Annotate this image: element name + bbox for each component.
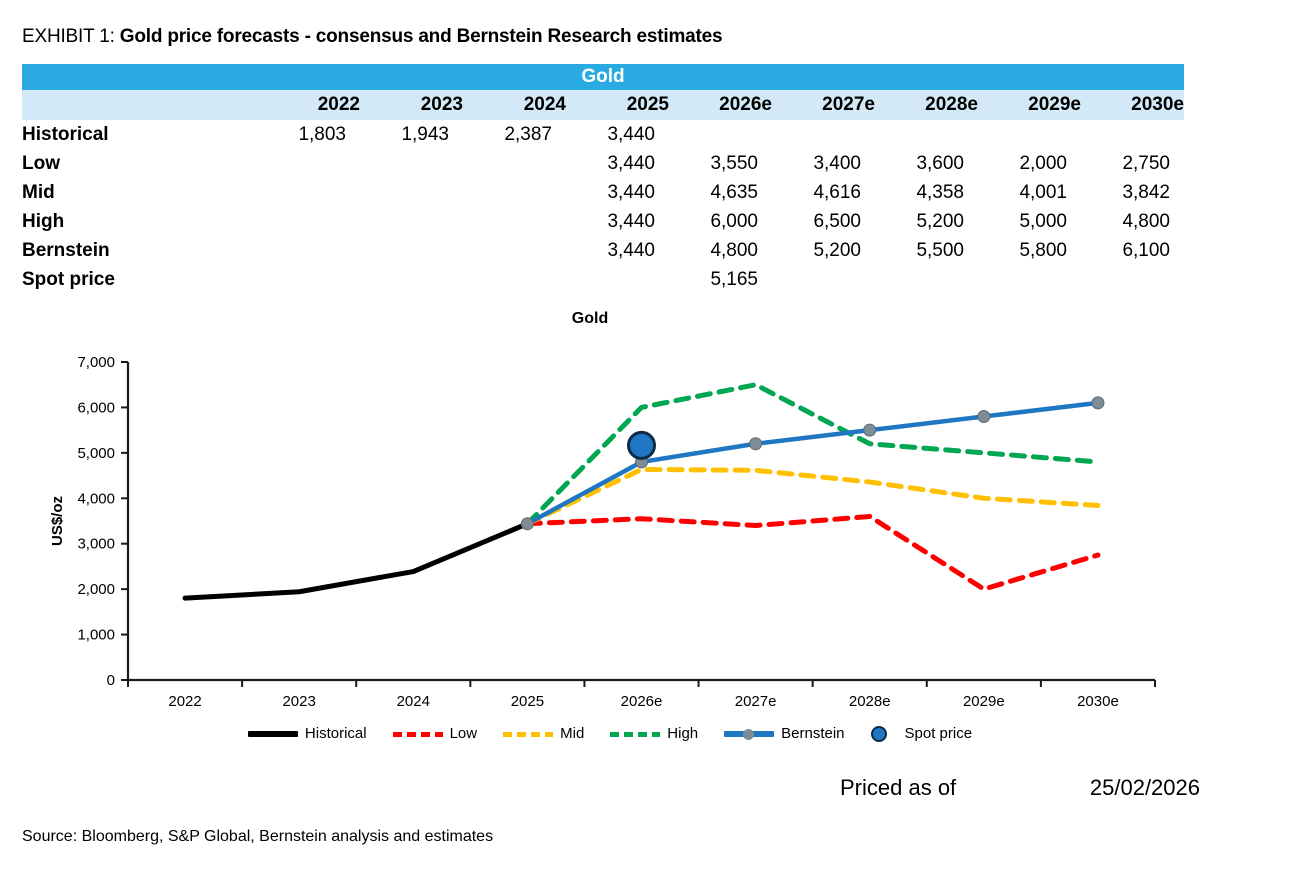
cell-historical-2022: 1,803 <box>257 120 360 149</box>
cell-historical-2023: 1,943 <box>360 120 463 149</box>
series-line-high <box>527 385 1098 524</box>
cell-historical-2027e <box>772 120 875 149</box>
cell-spot-2030e <box>1081 265 1184 294</box>
x-axis-tick-label: 2029e <box>963 693 1005 710</box>
gold-forecast-table: Gold 2022 2023 2024 2025 2026e 2027e 202… <box>22 64 1184 294</box>
cell-mid-2027e: 4,616 <box>772 178 875 207</box>
y-axis-tick-label: 6,000 <box>77 399 115 416</box>
table-row: High 3,440 6,000 6,500 5,200 5,000 4,800 <box>22 207 1184 236</box>
cell-low-2028e: 3,600 <box>875 149 978 178</box>
cell-bernstein-2027e: 5,200 <box>772 236 875 265</box>
cell-bernstein-2023 <box>360 236 463 265</box>
table-row: Low 3,440 3,550 3,400 3,600 2,000 2,750 <box>22 149 1184 178</box>
y-axis-tick-label: 0 <box>107 672 115 689</box>
legend-swatch-bernstein-icon <box>724 727 774 741</box>
series-line-low <box>527 516 1098 589</box>
legend-label-mid: Mid <box>560 725 584 742</box>
legend-swatch-high-icon <box>610 727 660 741</box>
cell-high-2023 <box>360 207 463 236</box>
row-label-spot-price: Spot price <box>22 265 257 294</box>
priced-as-of-label: Priced as of <box>840 775 956 801</box>
x-axis-tick-label: 2030e <box>1077 693 1119 710</box>
cell-bernstein-2028e: 5,500 <box>875 236 978 265</box>
cell-high-2025: 3,440 <box>566 207 669 236</box>
cell-bernstein-2026e: 4,800 <box>669 236 772 265</box>
series-marker-bernstein <box>864 424 876 436</box>
source-note: Source: Bloomberg, S&P Global, Bernstein… <box>22 828 493 846</box>
legend-label-historical: Historical <box>305 725 367 742</box>
legend-label-bernstein: Bernstein <box>781 725 844 742</box>
legend-label-high: High <box>667 725 698 742</box>
cell-bernstein-2029e: 5,800 <box>978 236 1081 265</box>
table-band-title: Gold <box>22 64 1184 90</box>
cell-bernstein-2025: 3,440 <box>566 236 669 265</box>
cell-mid-2030e: 3,842 <box>1081 178 1184 207</box>
cell-spot-2027e <box>772 265 875 294</box>
legend-item-mid[interactable]: Mid <box>503 725 584 742</box>
series-marker-bernstein <box>521 518 533 530</box>
chart-canvas: 01,0002,0003,0004,0005,0006,0007,000US$/… <box>0 300 1299 720</box>
legend-label-spot-price: Spot price <box>905 725 973 742</box>
cell-historical-2030e <box>1081 120 1184 149</box>
x-axis-tick-label: 2026e <box>621 693 663 710</box>
exhibit-headline: Gold price forecasts - consensus and Ber… <box>120 26 723 47</box>
legend-item-historical[interactable]: Historical <box>248 725 367 742</box>
row-label-bernstein: Bernstein <box>22 236 257 265</box>
column-header-2023: 2023 <box>360 90 463 120</box>
column-header-2027e: 2027e <box>772 90 875 120</box>
cell-mid-2026e: 4,635 <box>669 178 772 207</box>
row-label-low: Low <box>22 149 257 178</box>
table-band-title-row: Gold <box>22 64 1184 90</box>
series-marker-bernstein <box>1092 397 1104 409</box>
cell-spot-2023 <box>360 265 463 294</box>
table-row: Bernstein 3,440 4,800 5,200 5,500 5,800 … <box>22 236 1184 265</box>
cell-high-2022 <box>257 207 360 236</box>
cell-mid-2029e: 4,001 <box>978 178 1081 207</box>
cell-mid-2024 <box>463 178 566 207</box>
row-label-historical: Historical <box>22 120 257 149</box>
cell-mid-2022 <box>257 178 360 207</box>
cell-bernstein-2022 <box>257 236 360 265</box>
legend-item-low[interactable]: Low <box>393 725 478 742</box>
x-axis-tick-label: 2028e <box>849 693 891 710</box>
cell-high-2028e: 5,200 <box>875 207 978 236</box>
legend-swatch-low-icon <box>393 727 443 741</box>
cell-historical-2024: 2,387 <box>463 120 566 149</box>
exhibit-label: EXHIBIT 1: <box>22 26 120 47</box>
series-marker-bernstein <box>978 411 990 423</box>
cell-spot-2025 <box>566 265 669 294</box>
cell-spot-2029e <box>978 265 1081 294</box>
column-header-2024: 2024 <box>463 90 566 120</box>
cell-low-2023 <box>360 149 463 178</box>
cell-historical-2029e <box>978 120 1081 149</box>
cell-high-2026e: 6,000 <box>669 207 772 236</box>
cell-mid-2025: 3,440 <box>566 178 669 207</box>
cell-spot-2026e: 5,165 <box>669 265 772 294</box>
series-line-historical <box>185 524 527 598</box>
cell-spot-2022 <box>257 265 360 294</box>
y-axis-tick-label: 5,000 <box>77 445 115 462</box>
y-axis-tick-label: 7,000 <box>77 354 115 371</box>
cell-spot-2028e <box>875 265 978 294</box>
column-header-2022: 2022 <box>257 90 360 120</box>
cell-mid-2023 <box>360 178 463 207</box>
x-axis-tick-label: 2027e <box>735 693 777 710</box>
cell-low-2026e: 3,550 <box>669 149 772 178</box>
column-header-rowlabel <box>22 90 257 120</box>
spot-price-marker <box>629 432 655 458</box>
cell-mid-2028e: 4,358 <box>875 178 978 207</box>
cell-high-2027e: 6,500 <box>772 207 875 236</box>
column-header-2025: 2025 <box>566 90 669 120</box>
legend-swatch-historical-icon <box>248 727 298 741</box>
cell-low-2029e: 2,000 <box>978 149 1081 178</box>
series-line-bernstein <box>527 403 1098 524</box>
x-axis-tick-label: 2022 <box>168 693 201 710</box>
y-axis-tick-label: 1,000 <box>77 627 115 644</box>
table-row: Mid 3,440 4,635 4,616 4,358 4,001 3,842 <box>22 178 1184 207</box>
priced-as-of: Priced as of 25/02/2026 <box>840 775 1200 801</box>
legend-item-high[interactable]: High <box>610 725 698 742</box>
table-row: Historical 1,803 1,943 2,387 3,440 <box>22 120 1184 149</box>
legend-item-spot-price[interactable]: Spot price <box>871 725 973 742</box>
cell-bernstein-2030e: 6,100 <box>1081 236 1184 265</box>
cell-low-2027e: 3,400 <box>772 149 875 178</box>
column-header-2026e: 2026e <box>669 90 772 120</box>
y-axis-tick-label: 2,000 <box>77 581 115 598</box>
gold-price-chart: Gold 01,0002,0003,0004,0005,0006,0007,00… <box>0 300 1299 770</box>
cell-low-2030e: 2,750 <box>1081 149 1184 178</box>
cell-historical-2028e <box>875 120 978 149</box>
cell-high-2029e: 5,000 <box>978 207 1081 236</box>
cell-bernstein-2024 <box>463 236 566 265</box>
table-header-row: 2022 2023 2024 2025 2026e 2027e 2028e 20… <box>22 90 1184 120</box>
row-label-mid: Mid <box>22 178 257 207</box>
chart-legend: Historical Low Mid High Bernstein <box>140 725 1080 742</box>
cell-spot-2024 <box>463 265 566 294</box>
priced-as-of-date: 25/02/2026 <box>1090 775 1200 801</box>
cell-historical-2025: 3,440 <box>566 120 669 149</box>
x-axis-tick-label: 2023 <box>282 693 315 710</box>
series-marker-bernstein <box>750 438 762 450</box>
cell-historical-2026e <box>669 120 772 149</box>
x-axis-tick-label: 2025 <box>511 693 544 710</box>
x-axis-tick-label: 2024 <box>397 693 430 710</box>
legend-swatch-mid-icon <box>503 727 553 741</box>
legend-item-bernstein[interactable]: Bernstein <box>724 725 844 742</box>
y-axis-tick-label: 3,000 <box>77 536 115 553</box>
table-row: Spot price 5,165 <box>22 265 1184 294</box>
cell-low-2022 <box>257 149 360 178</box>
y-axis-title: US$/oz <box>49 496 66 546</box>
row-label-high: High <box>22 207 257 236</box>
column-header-2029e: 2029e <box>978 90 1081 120</box>
cell-high-2030e: 4,800 <box>1081 207 1184 236</box>
cell-low-2025: 3,440 <box>566 149 669 178</box>
y-axis-tick-label: 4,000 <box>77 490 115 507</box>
legend-swatch-spot-price-icon <box>871 726 887 742</box>
cell-high-2024 <box>463 207 566 236</box>
column-header-2030e: 2030e <box>1081 90 1184 120</box>
cell-low-2024 <box>463 149 566 178</box>
column-header-2028e: 2028e <box>875 90 978 120</box>
page-title: EXHIBIT 1: Gold price forecasts - consen… <box>22 26 722 48</box>
legend-label-low: Low <box>450 725 478 742</box>
